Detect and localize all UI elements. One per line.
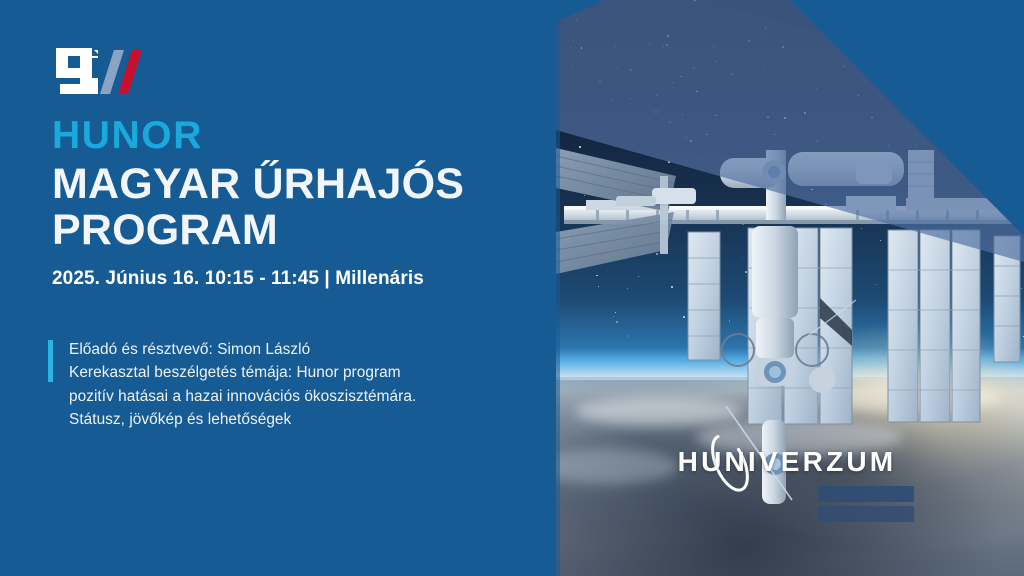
event-datetime-venue: 2025. Június 16. 10:15 - 11:45 | Millená… (52, 268, 424, 290)
g-slash-logo (52, 44, 182, 100)
solar-array-left-inner (688, 232, 720, 360)
presentation-slide: HUNIVERZUM HUNOR MAGYAR ŰRHAJÓS PROGRAM … (0, 0, 1024, 576)
huniverzum-watermark: HUNIVERZUM (672, 432, 902, 494)
page-title: MAGYAR ŰRHAJÓS PROGRAM (52, 161, 532, 254)
huniverzum-wordmark: HUNIVERZUM (672, 446, 902, 478)
accent-bar (48, 340, 53, 382)
solar-array-right-outer (994, 236, 1020, 362)
eyebrow-hunor: HUNOR (52, 116, 532, 155)
title-block: HUNOR MAGYAR ŰRHAJÓS PROGRAM (52, 116, 532, 254)
solar-array-right-main (888, 230, 980, 422)
description-text: Előadó és résztvevő: Simon László Kereka… (69, 338, 416, 432)
left-content-panel: HUNOR MAGYAR ŰRHAJÓS PROGRAM 2025. Júniu… (0, 0, 560, 576)
description-block: Előadó és résztvevő: Simon László Kereka… (48, 338, 416, 432)
